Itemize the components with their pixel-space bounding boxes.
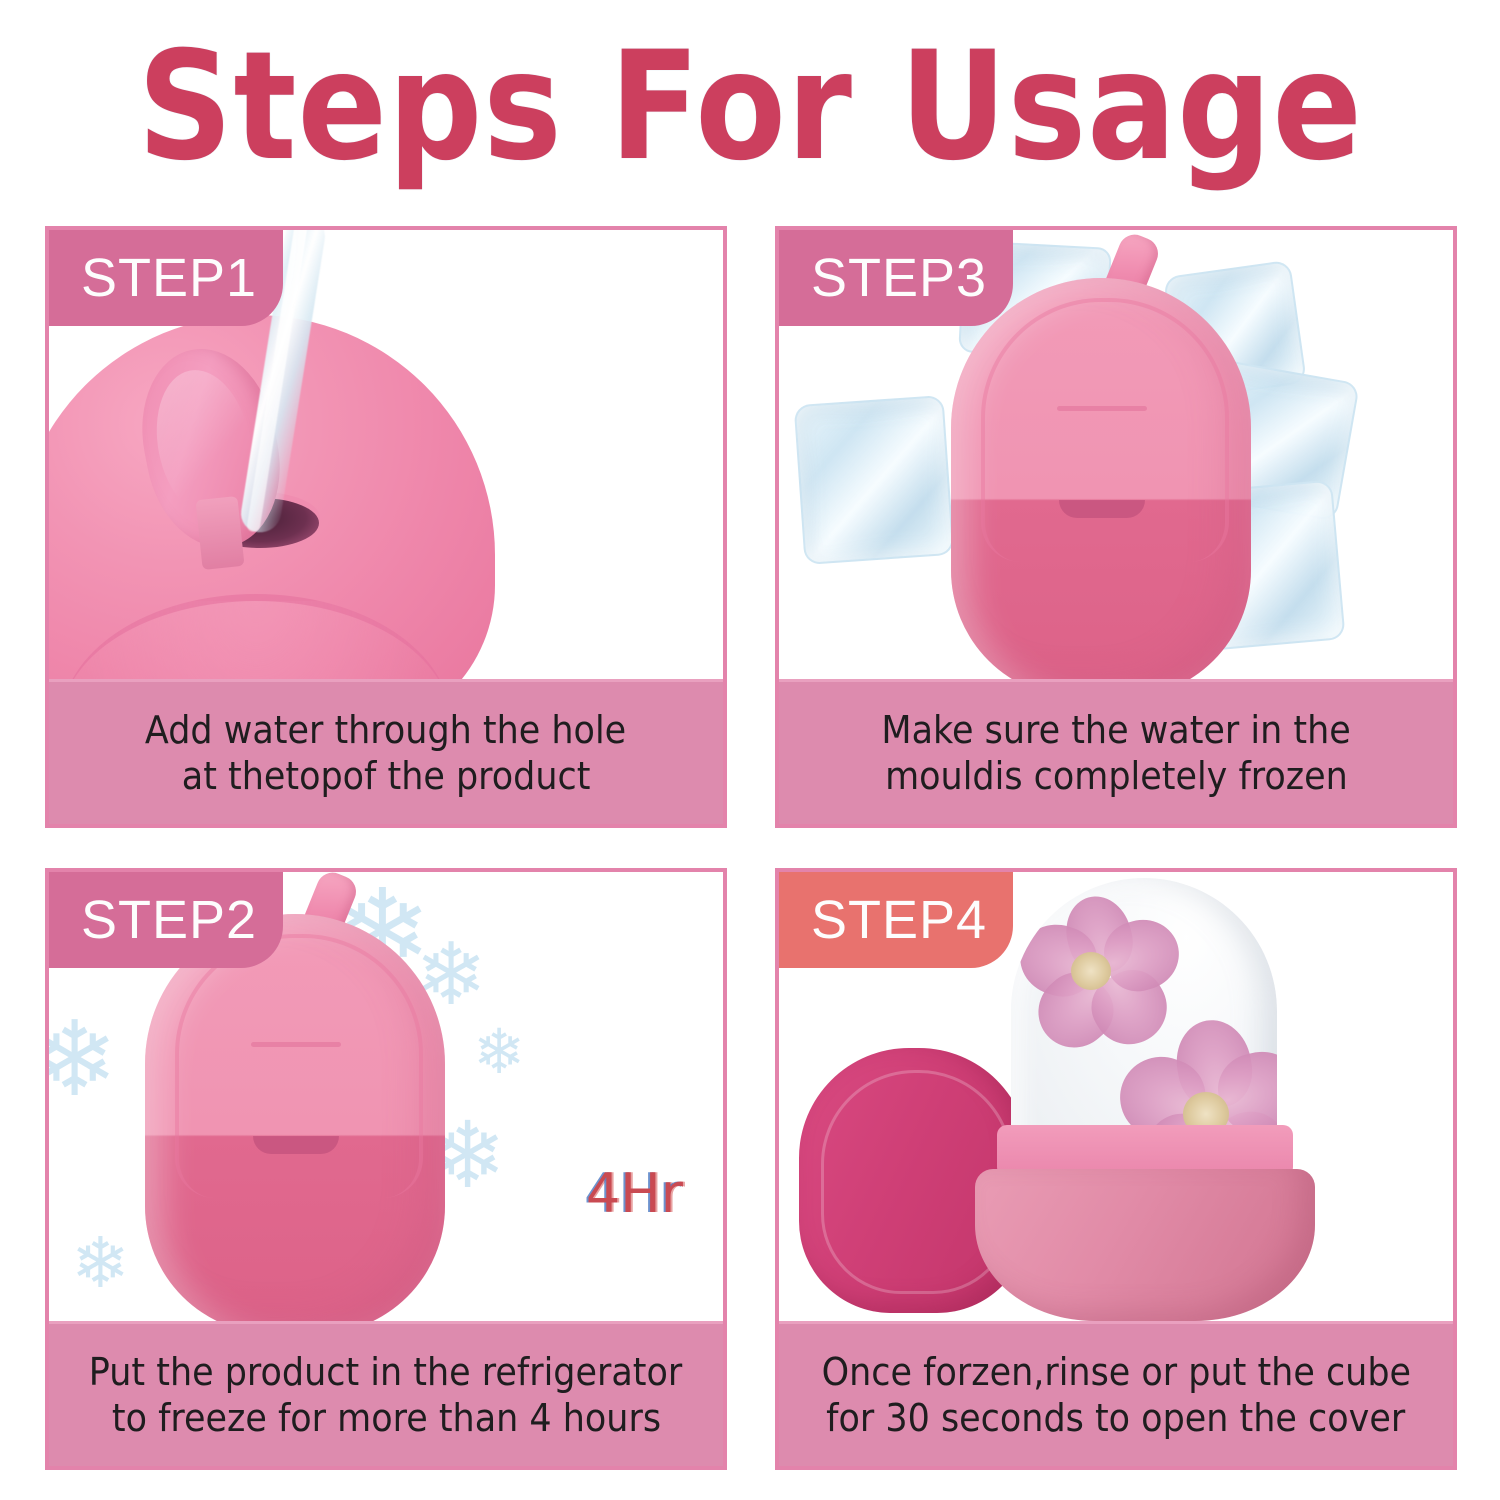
- step-badge-4: STEP4: [779, 872, 1013, 968]
- flower-center: [1071, 952, 1111, 990]
- snowflake-icon-3: ❄: [49, 1008, 118, 1112]
- step-caption-3-line2: mouldis completely frozen: [885, 753, 1348, 799]
- step-caption-3-line1: Make sure the water in the: [881, 707, 1350, 753]
- infographic-page: Steps For Usage STEP1 Add water through …: [0, 0, 1500, 1500]
- step-panel-1[interactable]: STEP1 Add water through the hole at thet…: [45, 226, 727, 828]
- steps-grid: STEP1 Add water through the hole at thet…: [45, 226, 1457, 1470]
- step-caption-2-line2: to freeze for more than 4 hours: [111, 1395, 660, 1441]
- step-panel-2[interactable]: STEP2 ❄ ❄ ❄ ❄ ❄ ❄ 4Hr Put the product in…: [45, 868, 727, 1470]
- mold-seam-notch-graphic-2: [253, 1136, 339, 1154]
- step-badge-1: STEP1: [49, 230, 283, 326]
- snowflake-icon-6: ❄: [71, 1228, 130, 1298]
- closed-mold-graphic-3: [951, 278, 1251, 679]
- closed-mold-graphic-2: [145, 914, 445, 1321]
- step-panel-4[interactable]: STEP4: [775, 868, 1457, 1470]
- step-caption-4-line1: Once forzen,rinse or put the cube: [821, 1349, 1410, 1395]
- step-panel-3[interactable]: STEP3 Make sure the water in the mouldis…: [775, 226, 1457, 828]
- step-badge-label-2: STEP2: [81, 893, 257, 947]
- step-badge-label-1: STEP1: [81, 251, 257, 305]
- mold-base-body-graphic: [975, 1169, 1315, 1321]
- mold-base-cup-graphic: [975, 1125, 1315, 1321]
- step-caption-4-line2: for 30 seconds to open the cover: [826, 1395, 1405, 1441]
- mold-seam-notch-graphic-3: [1059, 500, 1145, 518]
- ice-cube-left-graphic: [794, 395, 955, 565]
- snowflake-icon-4: ❄: [473, 1022, 525, 1084]
- step-caption-1-line2: at thetopof the product: [182, 753, 591, 799]
- page-title: Steps For Usage: [137, 32, 1362, 182]
- mold-lid-hinge-graphic: [195, 496, 244, 570]
- step-badge-3: STEP3: [779, 230, 1013, 326]
- step-badge-label-3: STEP3: [811, 251, 987, 305]
- page-title-container: Steps For Usage: [0, 22, 1500, 192]
- step-caption-3: Make sure the water in the mouldis compl…: [779, 679, 1453, 824]
- freeze-duration-label: 4Hr: [586, 1162, 683, 1225]
- step-caption-2-line1: Put the product in the refrigerator: [89, 1349, 682, 1395]
- step-caption-1-line1: Add water through the hole: [145, 707, 626, 753]
- step-caption-4: Once forzen,rinse or put the cube for 30…: [779, 1321, 1453, 1466]
- step-caption-2: Put the product in the refrigerator to f…: [49, 1321, 723, 1466]
- step-badge-label-4: STEP4: [811, 893, 987, 947]
- step-caption-1: Add water through the hole at thetopof t…: [49, 679, 723, 824]
- step-badge-2: STEP2: [49, 872, 283, 968]
